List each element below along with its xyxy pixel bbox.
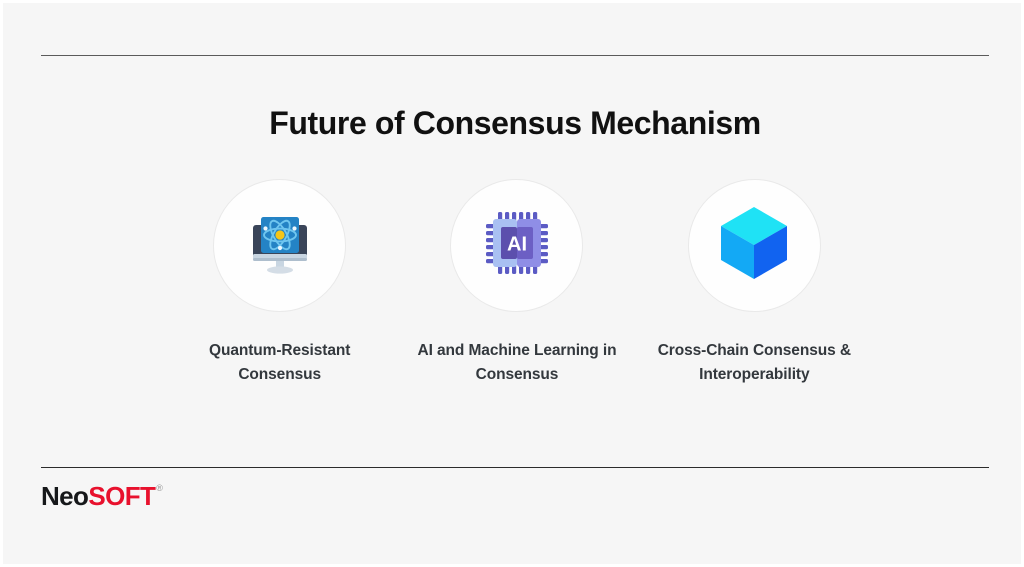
neosoft-logo: Neo SOFT ® — [41, 481, 162, 511]
bottom-divider-rule — [41, 467, 989, 468]
logo-text-neo: Neo — [41, 481, 88, 511]
quantum-computer-atom-icon — [241, 204, 319, 287]
ai-chip-icon: AI — [481, 207, 553, 284]
icon-circle-crosschain — [688, 179, 821, 312]
registered-trademark-icon: ® — [156, 484, 162, 493]
feature-card-caption: Cross-Chain Consensus & Interoperability — [644, 339, 864, 387]
icon-circle-quantum — [213, 179, 346, 312]
feature-card-crosschain[interactable]: Cross-Chain Consensus & Interoperability — [636, 179, 873, 387]
top-divider-rule — [41, 55, 989, 56]
feature-cards-row: Quantum-Resistant Consensus — [161, 179, 873, 387]
ai-chip-label: AI — [507, 234, 527, 256]
feature-card-caption: AI and Machine Learning in Consensus — [407, 339, 627, 387]
feature-card-caption: Quantum-Resistant Consensus — [170, 339, 390, 387]
logo-text-soft: SOFT — [88, 481, 155, 511]
slide-canvas: Future of Consensus Mechanism — [0, 0, 1024, 567]
icon-circle-ai: AI — [450, 179, 583, 312]
feature-card-ai[interactable]: AI AI and Machine Learning in Consensus — [398, 179, 635, 387]
feature-card-quantum[interactable]: Quantum-Resistant Consensus — [161, 179, 398, 387]
page-title: Future of Consensus Mechanism — [3, 101, 1024, 145]
cube-interoperability-icon — [718, 204, 790, 287]
